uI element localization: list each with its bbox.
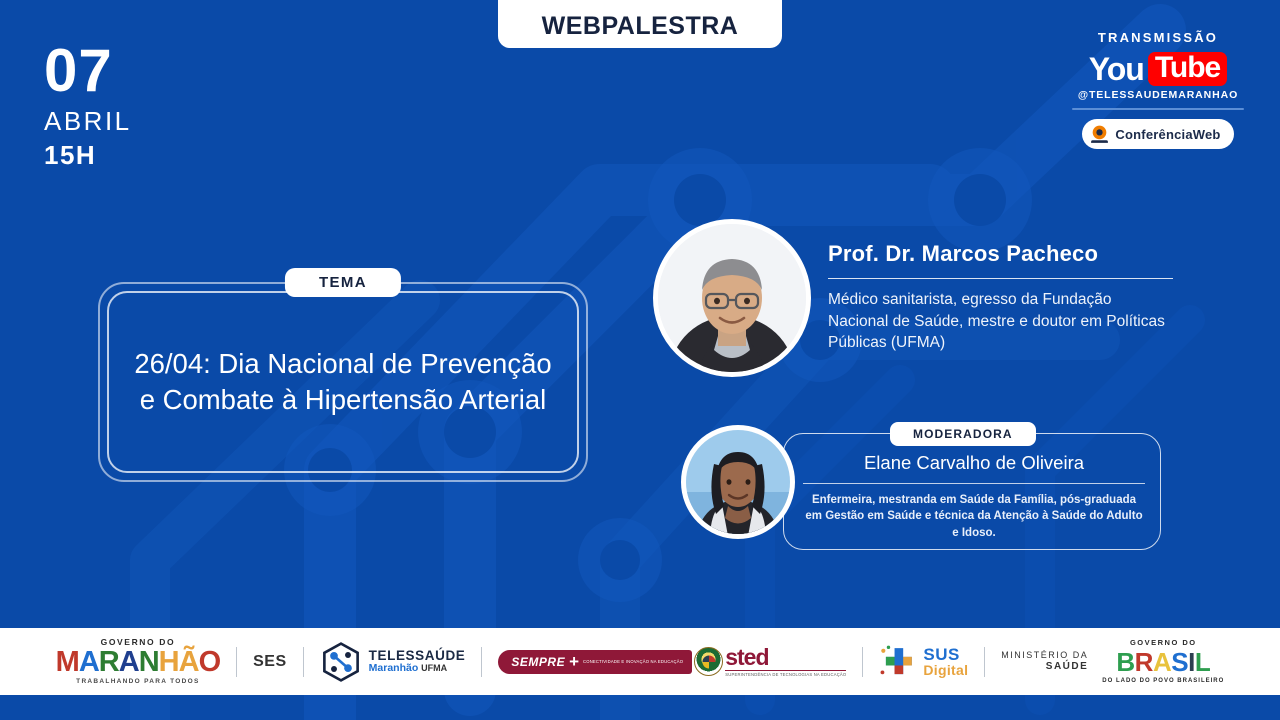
youtube-handle: @TELESSAUDEMARANHAO [1060,89,1256,101]
webpalestra-tab: WEBPALESTRA [498,0,782,48]
tema-inner-border: 26/04: Dia Nacional de Prevenção e Comba… [107,291,579,473]
telessaude-text: TELESSAÚDE Maranhão UFMA [369,649,466,674]
date-day: 07 [44,42,132,99]
tema-title: 26/04: Dia Nacional de Prevenção e Comba… [129,346,557,419]
brasil-bottom-text: DO LADO DO POVO BRASILEIRO [1102,678,1224,684]
sempre-ribbon: SEMPRE + CONECTIVIDADE E INOVAÇÃO NA EDU… [498,650,692,674]
hexagon-network-icon [320,641,362,683]
moderator-bio: Enfermeira, mestranda em Saúde da Famíli… [803,492,1145,541]
sempre-sub: CONECTIVIDADE E INOVAÇÃO NA EDUCAÇÃO [583,659,683,664]
logo-sus-digital: SUS Digital [879,643,968,681]
speaker-avatar [653,219,811,377]
sus-text: SUS Digital [923,646,968,678]
maranhao-bottom-text: TRABALHANDO PARA TODOS [76,679,199,686]
youtube-you-text: You [1089,53,1144,85]
telessaude-ufma: UFMA [421,663,447,673]
speaker-info: Prof. Dr. Marcos Pacheco Médico sanitari… [828,241,1173,354]
moderator-avatar [681,425,795,539]
moderator-info: Elane Carvalho de Oliveira Enfermeira, m… [803,451,1145,541]
footer-separator-3 [481,647,482,677]
tema-badge: TEMA [285,268,401,297]
transmission-divider [1072,108,1244,110]
speaker-bio: Médico sanitarista, egresso da Fundação … [828,289,1173,353]
sted-block: sted SUPERINTENDÊNCIA DE TECNOLOGIAS NA … [725,646,846,677]
speaker-block: Prof. Dr. Marcos Pacheco Médico sanitari… [653,219,1173,374]
conferenciaweb-badge[interactable]: ConferênciaWeb [1082,119,1233,149]
ministerio-line2: SAÚDE [1046,661,1089,674]
moderator-name: Elane Carvalho de Oliveira [803,451,1145,475]
webpalestra-label: WEBPALESTRA [542,12,739,41]
moderator-block: MODERADORA Elane Carvalho de Oliveira [681,425,1161,550]
date-hour: 15H [44,140,132,171]
logo-ses: SES [253,653,287,671]
date-month: ABRIL [44,105,132,138]
youtube-red-box: Tube [1148,52,1227,86]
footer-separator-1 [236,647,237,677]
sted-word: sted [725,646,846,669]
logo-sempre-sted: SEMPRE + CONECTIVIDADE E INOVAÇÃO NA EDU… [498,646,846,677]
speaker-portrait [658,224,806,372]
sus-line1: SUS [923,646,968,663]
logo-ministerio-saude: MINISTÉRIO DA SAÚDE [1001,650,1088,674]
tema-panel: 26/04: Dia Nacional de Prevenção e Comba… [98,282,588,482]
footer-separator-4 [862,647,863,677]
ministerio-line1: MINISTÉRIO DA [1001,650,1088,661]
maranhao-wordmark: MARANHÃO [56,648,220,677]
logo-telessaude: TELESSAÚDE Maranhão UFMA [320,641,466,683]
logo-governo-brasil: GOVERNO DO BRASIL DO LADO DO POVO BRASIL… [1102,639,1224,684]
transmission-block: TRANSMISSÃO You Tube @TELESSAUDEMARANHAO… [1060,30,1256,150]
telessaude-maranhao: Maranhão [369,662,419,674]
sted-rule [725,670,846,671]
footer-logo-bar: GOVERNO DO MARANHÃO TRABALHANDO PARA TOD… [0,628,1280,695]
moderator-divider [803,483,1145,484]
moderator-portrait [686,430,790,534]
ufma-seal-icon [694,647,723,676]
speaker-name: Prof. Dr. Marcos Pacheco [828,241,1173,267]
logo-governo-maranhao: GOVERNO DO MARANHÃO TRABALHANDO PARA TOD… [56,638,220,685]
telessaude-line2: Maranhão UFMA [369,663,466,674]
speaker-divider [828,278,1173,279]
sus-cross-icon [879,643,917,681]
brasil-top-text: GOVERNO DO [1130,639,1197,647]
sus-line2: Digital [923,663,968,677]
youtube-tube-text: Tube [1155,51,1220,84]
footer-separator-2 [303,647,304,677]
sempre-plus: + [569,655,579,669]
youtube-logo[interactable]: You Tube [1060,52,1256,86]
brasil-wordmark: BRASIL [1116,649,1210,675]
webcam-icon [1089,124,1110,145]
sempre-word: SEMPRE [511,655,565,669]
poster-canvas: WEBPALESTRA 07 ABRIL 15H TRANSMISSÃO You… [0,0,1280,720]
footer-separator-5 [984,647,985,677]
telessaude-line1: TELESSAÚDE [369,649,466,663]
ses-label: SES [253,653,287,671]
moderator-badge: MODERADORA [890,422,1036,446]
conferenciaweb-label: ConferênciaWeb [1115,127,1220,142]
date-block: 07 ABRIL 15H [44,42,132,171]
sted-sub: SUPERINTENDÊNCIA DE TECNOLOGIAS NA EDUCA… [725,672,846,677]
transmission-label: TRANSMISSÃO [1060,30,1256,45]
